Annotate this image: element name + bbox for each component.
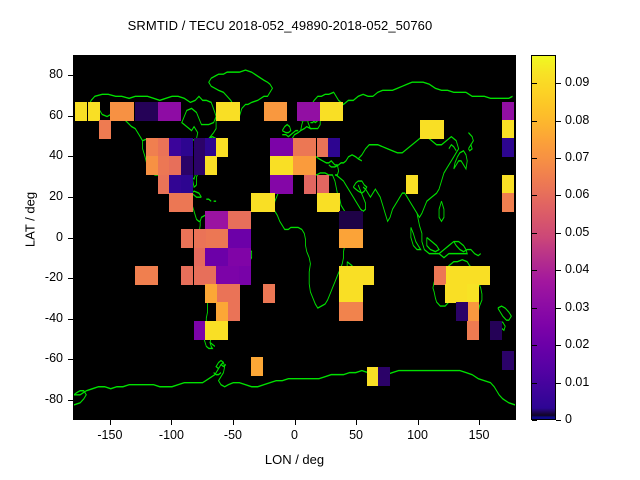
data-cell (169, 175, 181, 194)
data-cell (502, 175, 514, 194)
data-cell (328, 138, 340, 157)
colorbar-tick-label: 0.07 (565, 150, 589, 164)
colorbar-tick (556, 233, 561, 234)
data-cell (502, 120, 514, 139)
y-tick-label: 20 (10, 189, 63, 203)
colorbar-tick-inner (532, 195, 537, 196)
y-tick-label: -40 (10, 311, 63, 325)
data-cell (122, 102, 134, 121)
colorbar-tick (556, 121, 561, 122)
plot-area (73, 55, 516, 420)
data-cell (88, 102, 100, 121)
data-cell (304, 175, 316, 194)
colorbar-tick (556, 383, 561, 384)
y-tick-label: 60 (10, 108, 63, 122)
data-cell (339, 284, 351, 303)
data-cell (502, 102, 514, 121)
data-cell (205, 284, 217, 303)
colorbar-tick (556, 83, 561, 84)
data-cell (351, 211, 363, 230)
data-cell (351, 302, 363, 321)
chart-title: SRMTID / TECU 2018-052_49890-2018-052_50… (0, 18, 560, 33)
data-cell (216, 138, 228, 157)
x-tick-label: 0 (265, 428, 325, 442)
data-cell (339, 266, 351, 285)
colorbar-tick-inner (532, 158, 537, 159)
x-tick-label: -150 (80, 428, 140, 442)
x-tick (418, 420, 419, 425)
y-axis-title: LAT / deg (23, 160, 38, 280)
colorbar-tick-inner (532, 420, 537, 421)
colorbar-tick-inner (532, 383, 537, 384)
data-cell (181, 138, 193, 157)
x-tick-label: 100 (388, 428, 448, 442)
x-axis-title: LON / deg (73, 452, 516, 467)
data-cell (216, 302, 228, 321)
data-cell (362, 266, 374, 285)
colorbar-tick-label: 0.01 (565, 375, 589, 389)
colorbar-tick-label: 0.04 (565, 262, 589, 276)
data-cell (263, 193, 275, 212)
y-tick (68, 197, 73, 198)
data-cell (228, 302, 240, 321)
data-cell (239, 211, 251, 230)
x-tick-label: -100 (141, 428, 201, 442)
data-cell (304, 138, 316, 157)
data-cell (406, 175, 418, 194)
data-cell (216, 229, 228, 248)
data-cell (317, 175, 329, 194)
colorbar-tick (556, 420, 561, 421)
colorbar-tick-inner (532, 308, 537, 309)
x-tick (171, 420, 172, 425)
data-cell (169, 193, 181, 212)
data-cell (351, 284, 363, 303)
colorbar-tick-label: 0.08 (565, 113, 589, 127)
colorbar-tick (556, 345, 561, 346)
data-cell (181, 229, 193, 248)
data-cell (351, 229, 363, 248)
data-cell (490, 321, 502, 340)
data-cell (181, 156, 193, 175)
data-cell (169, 138, 181, 157)
x-tick-label: 150 (449, 428, 509, 442)
data-cell (146, 138, 158, 157)
data-cell (420, 120, 432, 139)
y-tick-label: 80 (10, 67, 63, 81)
data-cell (194, 229, 206, 248)
colorbar-tick-label: 0.09 (565, 75, 589, 89)
data-cell (378, 367, 390, 386)
x-tick-label: 50 (326, 428, 386, 442)
data-cell (216, 248, 228, 267)
data-cell (216, 102, 228, 121)
data-cell (146, 102, 158, 121)
colorbar-tick (556, 308, 561, 309)
data-cell (478, 266, 490, 285)
data-cell (467, 321, 479, 340)
data-cell (169, 156, 181, 175)
colorbar-tick-label: 0.03 (565, 300, 589, 314)
y-tick-label: 0 (10, 230, 63, 244)
x-tick (295, 420, 296, 425)
data-cell (181, 175, 193, 194)
y-tick (68, 400, 73, 401)
chart-root: SRMTID / TECU 2018-052_49890-2018-052_50… (0, 0, 640, 480)
colorbar-tick-inner (532, 83, 537, 84)
data-cell (181, 266, 193, 285)
data-cell (181, 193, 193, 212)
data-cell (275, 102, 287, 121)
x-tick-label: -50 (203, 428, 263, 442)
data-cell (216, 266, 228, 285)
data-cell (281, 156, 293, 175)
colorbar-tick-inner (532, 270, 537, 271)
colorbar-tick-label: 0.05 (565, 225, 589, 239)
y-tick-label: -80 (10, 392, 63, 406)
data-cell (328, 193, 340, 212)
x-tick (233, 420, 234, 425)
data-cell (502, 351, 514, 370)
data-cell (263, 284, 275, 303)
colorbar-tick-inner (532, 121, 537, 122)
data-cell (331, 102, 343, 121)
y-tick (68, 238, 73, 239)
colorbar-tick-label: 0 (565, 412, 572, 426)
colorbar-tick-inner (532, 233, 537, 234)
x-tick (110, 420, 111, 425)
x-tick (479, 420, 480, 425)
data-cell (146, 156, 158, 175)
data-cell (308, 102, 320, 121)
data-cell (216, 321, 228, 340)
data-cell (169, 102, 181, 121)
data-cell (110, 102, 122, 121)
data-cell (304, 156, 316, 175)
colorbar-tick-label: 0.02 (565, 337, 589, 351)
y-tick (68, 278, 73, 279)
colorbar-tick (556, 158, 561, 159)
data-cell (75, 102, 87, 121)
data-cell (146, 266, 158, 285)
data-cell (432, 120, 444, 139)
data-cell (339, 211, 351, 230)
data-cell (205, 156, 217, 175)
y-tick (68, 359, 73, 360)
data-cell (281, 175, 293, 194)
data-cell (239, 266, 251, 285)
data-cell (467, 284, 479, 303)
data-cell (228, 284, 240, 303)
data-cell (216, 211, 228, 230)
data-cell (502, 193, 514, 212)
data-cell (339, 229, 351, 248)
data-cell (502, 138, 514, 157)
colorbar: 00.010.020.030.040.050.060.070.080.09 (531, 55, 556, 420)
data-cell-layer (74, 56, 515, 419)
y-tick-label: 40 (10, 148, 63, 162)
data-cell (99, 120, 111, 139)
y-tick (68, 75, 73, 76)
y-tick (68, 319, 73, 320)
data-cell (239, 229, 251, 248)
data-cell (251, 357, 263, 376)
data-cell (281, 138, 293, 157)
x-tick (356, 420, 357, 425)
data-cell (434, 266, 446, 285)
colorbar-tick (556, 270, 561, 271)
y-tick-label: -60 (10, 351, 63, 365)
colorbar-tick (556, 195, 561, 196)
data-cell (239, 248, 251, 267)
colorbar-gradient (531, 55, 556, 420)
data-cell (456, 302, 468, 321)
y-tick-label: -20 (10, 270, 63, 284)
data-cell (467, 302, 479, 321)
y-tick (68, 156, 73, 157)
data-cell (228, 102, 240, 121)
colorbar-tick-inner (532, 345, 537, 346)
colorbar-tick-label: 0.06 (565, 187, 589, 201)
y-tick (68, 116, 73, 117)
data-cell (339, 302, 351, 321)
data-cell (216, 284, 228, 303)
